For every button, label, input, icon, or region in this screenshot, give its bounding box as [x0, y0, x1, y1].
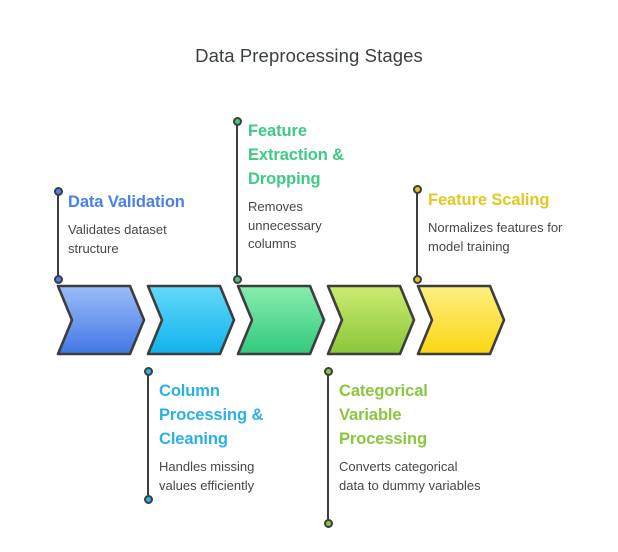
stage-title-3: Feature Extraction & Dropping	[248, 119, 366, 191]
chevron-flow-row	[0, 0, 618, 552]
chevron-stage-3[interactable]	[238, 286, 324, 354]
connector-line-stage-2	[147, 372, 149, 500]
connector-dot-bottom-stage-2	[144, 495, 153, 504]
chevron-stage-1[interactable]	[58, 286, 144, 354]
stage-description-5: Normalizes features for model training	[428, 219, 588, 256]
stage-description-3: Removes unnecessary columns	[248, 198, 344, 254]
connector-dot-bottom-stage-1	[54, 275, 63, 284]
connector-dot-bottom-stage-3	[233, 275, 242, 284]
connector-dot-top-stage-4	[324, 367, 333, 376]
connector-dot-bottom-stage-5	[413, 275, 422, 284]
diagram-canvas: Data Preprocessing Stages	[0, 0, 618, 552]
stage-description-1: Validates dataset structure	[68, 221, 220, 258]
stage-title-1: Data Validation	[68, 190, 220, 214]
stage-title-2: Column Processing & Cleaning	[159, 379, 285, 451]
connector-line-stage-4	[327, 372, 329, 524]
stage-label-block-4[interactable]: Categorical Variable Processing Converts…	[339, 379, 459, 495]
connector-dot-top-stage-5	[413, 185, 422, 194]
connector-line-stage-3	[236, 122, 238, 280]
stage-label-block-2[interactable]: Column Processing & Cleaning Handles mis…	[159, 379, 285, 495]
page-title: Data Preprocessing Stages	[0, 45, 618, 67]
connector-line-stage-1	[57, 192, 59, 280]
stage-label-block-3[interactable]: Feature Extraction & Dropping Removes un…	[248, 119, 366, 254]
connector-line-stage-5	[416, 190, 418, 280]
stage-label-block-1[interactable]: Data Validation Validates dataset struct…	[68, 190, 220, 258]
stage-description-2: Handles missing values efficiently	[159, 458, 285, 495]
chevron-stage-4[interactable]	[328, 286, 414, 354]
connector-dot-bottom-stage-4	[324, 519, 333, 528]
stage-label-block-5[interactable]: Feature Scaling Normalizes features for …	[428, 188, 588, 256]
connector-dot-top-stage-2	[144, 367, 153, 376]
connector-dot-top-stage-3	[233, 117, 242, 126]
stage-description-4: Converts categorical data to dummy varia…	[339, 458, 481, 495]
chevron-stage-2[interactable]	[148, 286, 234, 354]
chevron-stage-5[interactable]	[418, 286, 504, 354]
connector-dot-top-stage-1	[54, 187, 63, 196]
stage-title-4: Categorical Variable Processing	[339, 379, 459, 451]
stage-title-5: Feature Scaling	[428, 188, 588, 212]
